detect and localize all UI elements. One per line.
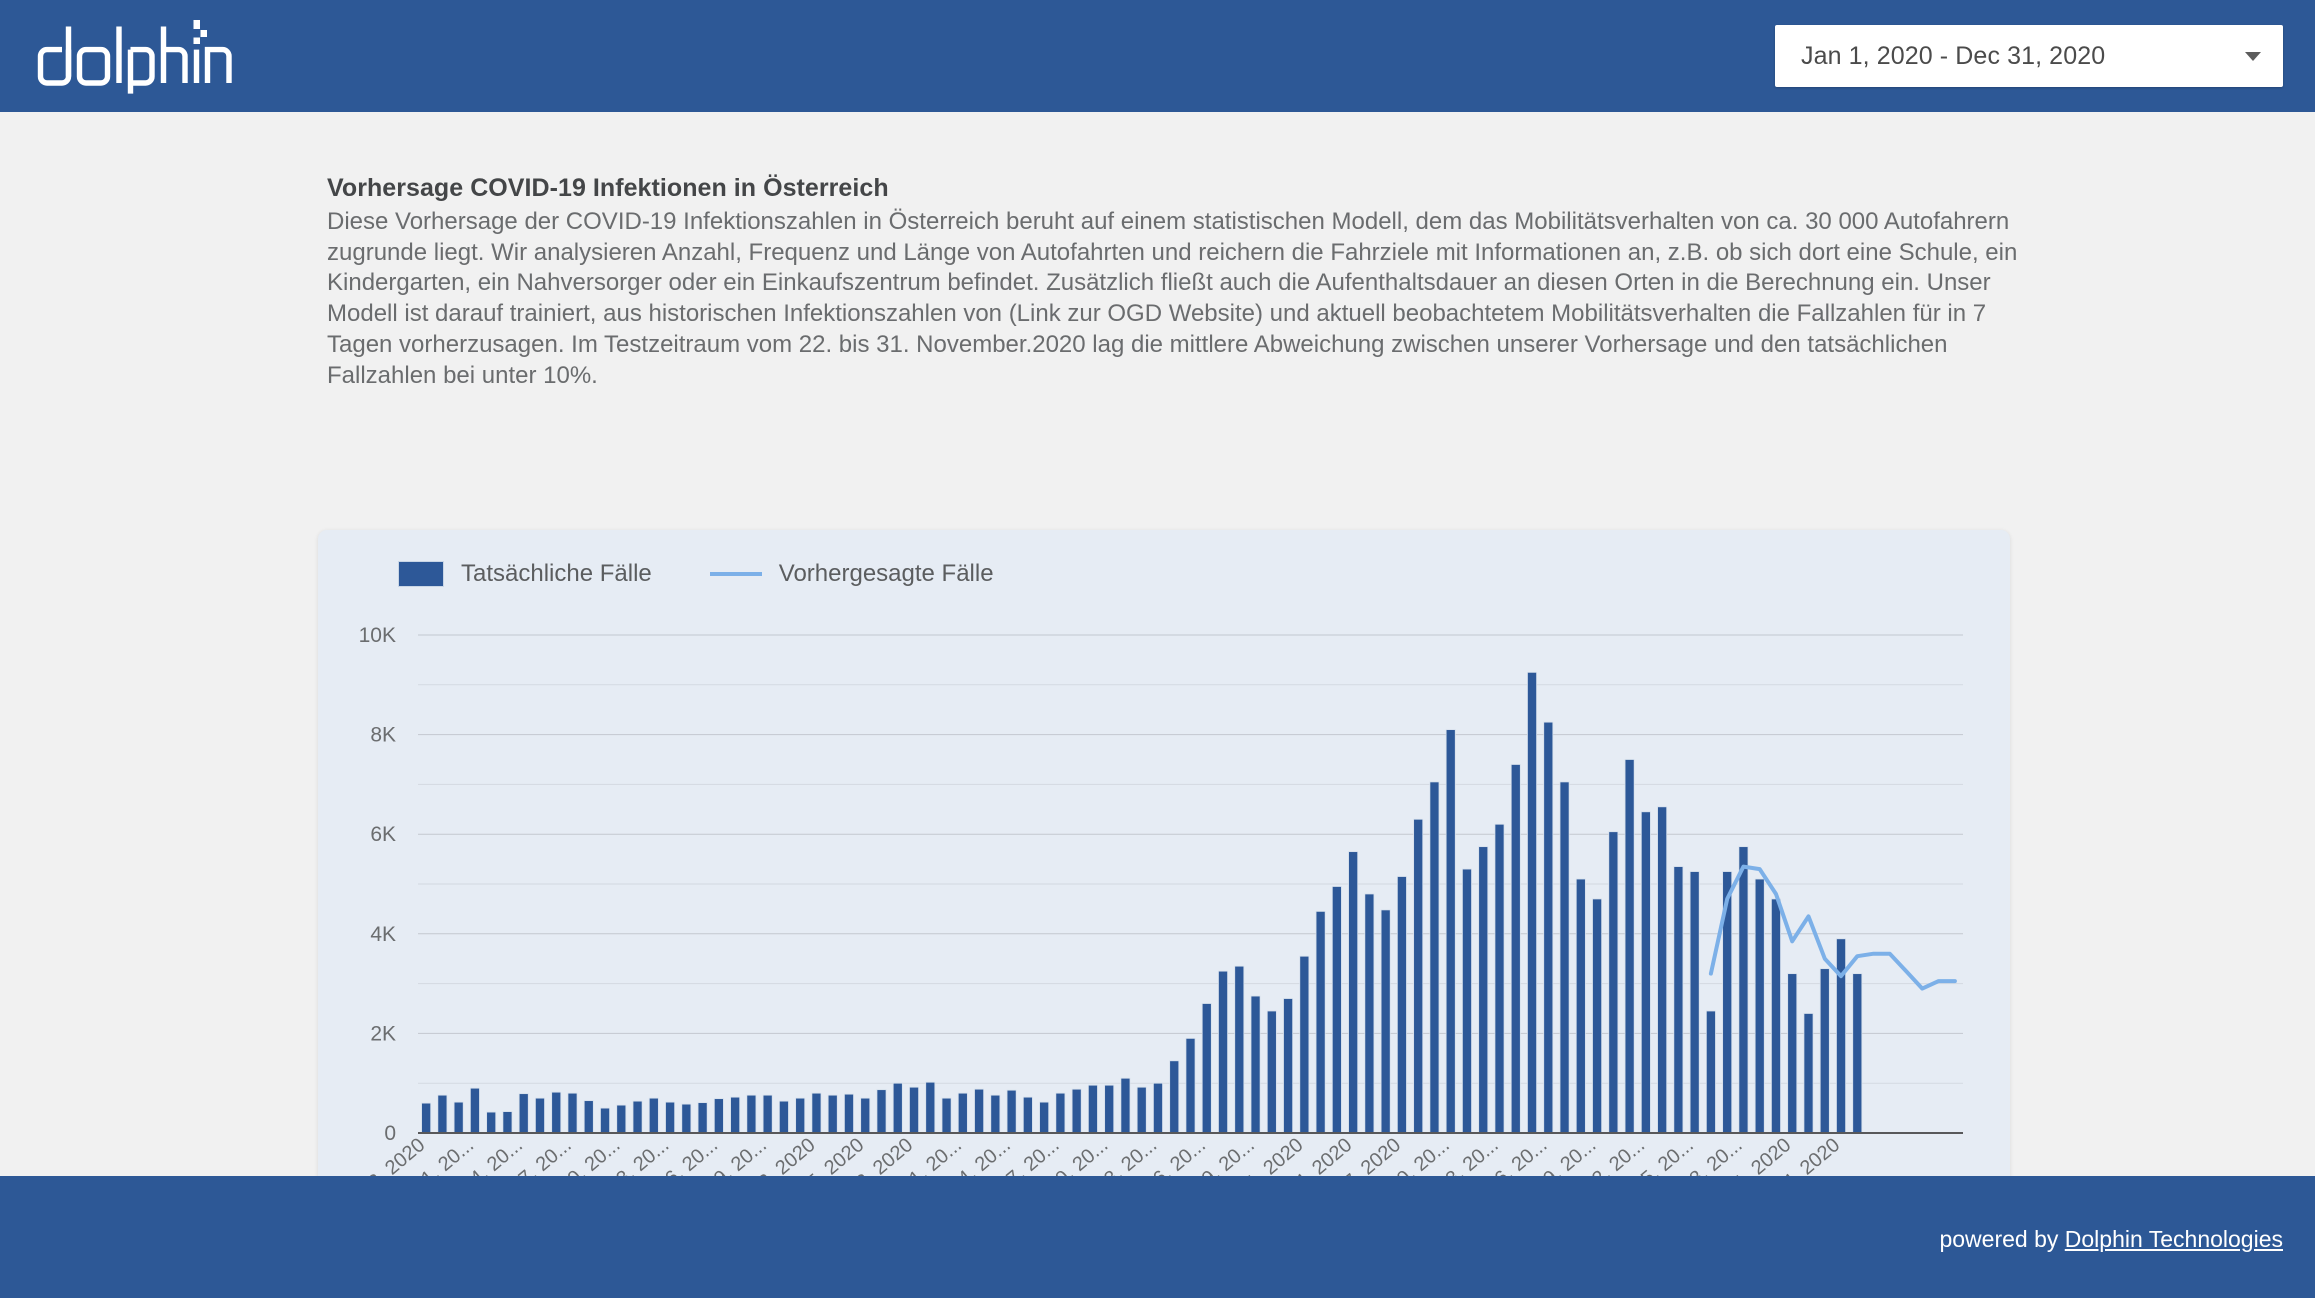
svg-text:4K: 4K — [370, 923, 396, 946]
app-footer: powered by Dolphin Technologies — [0, 1176, 2315, 1298]
app-header: Jan 1, 2020 - Dec 31, 2020 — [0, 0, 2315, 112]
brand-logo — [34, 0, 256, 112]
powered-by-text: powered by Dolphin Technologies — [1939, 1226, 2283, 1253]
dolphin-wordmark-logo — [34, 18, 256, 94]
powered-by-prefix: powered by — [1939, 1226, 2064, 1252]
date-range-label: Jan 1, 2020 - Dec 31, 2020 — [1801, 42, 2105, 71]
date-range-selector[interactable]: Jan 1, 2020 - Dec 31, 2020 — [1775, 25, 2283, 87]
svg-text:2K: 2K — [370, 1022, 396, 1045]
covid-forecast-chart[interactable]: 02K4K6K8K10KSep 8, 2020Sep 11, 20...Sep … — [318, 530, 2010, 1220]
page-title: Vorhersage COVID-19 Infektionen in Öster… — [327, 174, 2027, 203]
main-content: Vorhersage COVID-19 Infektionen in Öster… — [0, 112, 2315, 1176]
chevron-down-icon[interactable] — [2245, 52, 2261, 61]
chart-plot-area[interactable]: 02K4K6K8K10KSep 8, 2020Sep 11, 20...Sep … — [318, 530, 2010, 1220]
dolphin-technologies-link[interactable]: Dolphin Technologies — [2065, 1226, 2283, 1252]
chart-card: Tatsächliche Fälle Vorhergesagte Fälle 0… — [318, 530, 2010, 1220]
svg-text:8K: 8K — [370, 724, 396, 747]
description-block: Vorhersage COVID-19 Infektionen in Öster… — [327, 174, 2027, 391]
svg-text:0: 0 — [384, 1122, 396, 1145]
svg-text:10K: 10K — [359, 624, 396, 647]
page-description: Diese Vorhersage der COVID-19 Infektions… — [327, 207, 2027, 391]
svg-text:6K: 6K — [370, 823, 396, 846]
